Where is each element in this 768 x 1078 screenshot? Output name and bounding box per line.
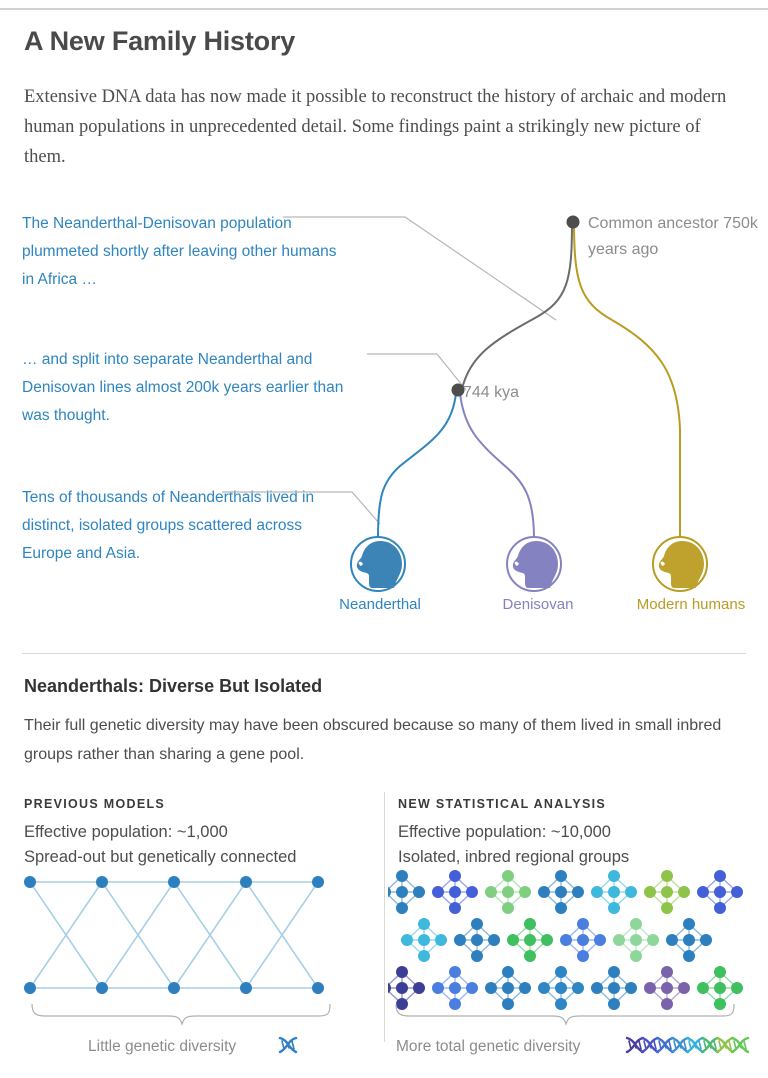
brace-left bbox=[32, 1004, 330, 1024]
column-divider bbox=[384, 792, 385, 1042]
dna-helix-icon bbox=[717, 1038, 733, 1052]
cluster-group bbox=[644, 966, 690, 1010]
lattice-node bbox=[312, 876, 324, 888]
cluster-group bbox=[401, 918, 447, 962]
cluster-group bbox=[666, 918, 712, 962]
column-kicker-previous: PREVIOUS MODELS bbox=[24, 797, 165, 811]
lattice-node bbox=[168, 876, 180, 888]
head-icon-denisovan bbox=[507, 537, 561, 591]
dna-helix-icon bbox=[642, 1038, 658, 1052]
infographic-page: A New Family History Extensive DNA data … bbox=[0, 0, 768, 1078]
lattice-node bbox=[240, 982, 252, 994]
dna-helix-icon bbox=[702, 1038, 718, 1052]
isolated-clusters-diagram bbox=[388, 866, 760, 1026]
dna-helix-icon bbox=[687, 1038, 703, 1052]
cluster-group bbox=[591, 966, 637, 1010]
lattice-node bbox=[312, 982, 324, 994]
cluster-group bbox=[538, 966, 584, 1010]
cluster-group bbox=[507, 918, 553, 962]
cluster-group bbox=[432, 966, 478, 1010]
section-divider bbox=[22, 653, 746, 654]
branch-modern bbox=[574, 222, 680, 538]
lattice-node bbox=[24, 876, 36, 888]
dna-helix-icon bbox=[280, 1038, 296, 1052]
page-title: A New Family History bbox=[24, 26, 295, 57]
caption-left: Little genetic diversity bbox=[88, 1038, 236, 1056]
lattice-node bbox=[96, 876, 108, 888]
lattice-node bbox=[168, 982, 180, 994]
leaf-label-modern-humans: Modern humans bbox=[636, 594, 746, 616]
cluster-group bbox=[432, 870, 478, 914]
dna-helix-icons-right bbox=[625, 1036, 757, 1056]
column-kicker-new: NEW STATISTICAL ANALYSIS bbox=[398, 797, 606, 811]
leaf-label-denisovan: Denisovan bbox=[468, 594, 608, 616]
dna-helix-icons-left bbox=[278, 1036, 304, 1056]
previous-population-line: Effective population: ~1,000 bbox=[24, 820, 228, 844]
cluster-group bbox=[560, 918, 606, 962]
intro-paragraph: Extensive DNA data has now made it possi… bbox=[24, 82, 736, 172]
head-icon-neanderthal bbox=[351, 537, 405, 591]
dna-helix-icon bbox=[672, 1038, 688, 1052]
dna-helix-icon bbox=[732, 1038, 748, 1052]
cluster-group bbox=[388, 966, 425, 1010]
split-time-label: 744 kya bbox=[463, 380, 519, 406]
cluster-group bbox=[644, 870, 690, 914]
head-icon-modern-humans bbox=[653, 537, 707, 591]
cluster-group bbox=[485, 966, 531, 1010]
common-ancestor-label: Common ancestor 750k years ago bbox=[588, 211, 758, 263]
branch-neanderthal bbox=[378, 393, 456, 538]
new-population-line: Effective population: ~10,000 bbox=[398, 820, 611, 844]
top-rule bbox=[0, 8, 768, 10]
cluster-group bbox=[454, 918, 500, 962]
cluster-group bbox=[613, 918, 659, 962]
lattice-node bbox=[240, 876, 252, 888]
node-common-ancestor bbox=[567, 216, 580, 229]
section-body: Their full genetic diversity may have be… bbox=[24, 711, 724, 769]
lattice-node bbox=[24, 982, 36, 994]
cluster-group bbox=[538, 870, 584, 914]
cluster-group bbox=[591, 870, 637, 914]
cluster-group bbox=[388, 870, 425, 914]
branch-denisovan bbox=[460, 393, 534, 538]
branch-archaic bbox=[462, 222, 572, 389]
lattice-network-diagram bbox=[10, 866, 358, 1026]
dna-helix-icon bbox=[627, 1038, 643, 1052]
leaf-label-neanderthal: Neanderthal bbox=[310, 594, 450, 616]
caption-right: More total genetic diversity bbox=[396, 1038, 580, 1056]
dna-helix-icon bbox=[657, 1038, 673, 1052]
cluster-group bbox=[485, 870, 531, 914]
cluster-group bbox=[697, 870, 743, 914]
lattice-node bbox=[96, 982, 108, 994]
section-title: Neanderthals: Diverse But Isolated bbox=[24, 676, 322, 697]
cluster-group bbox=[697, 966, 743, 1010]
